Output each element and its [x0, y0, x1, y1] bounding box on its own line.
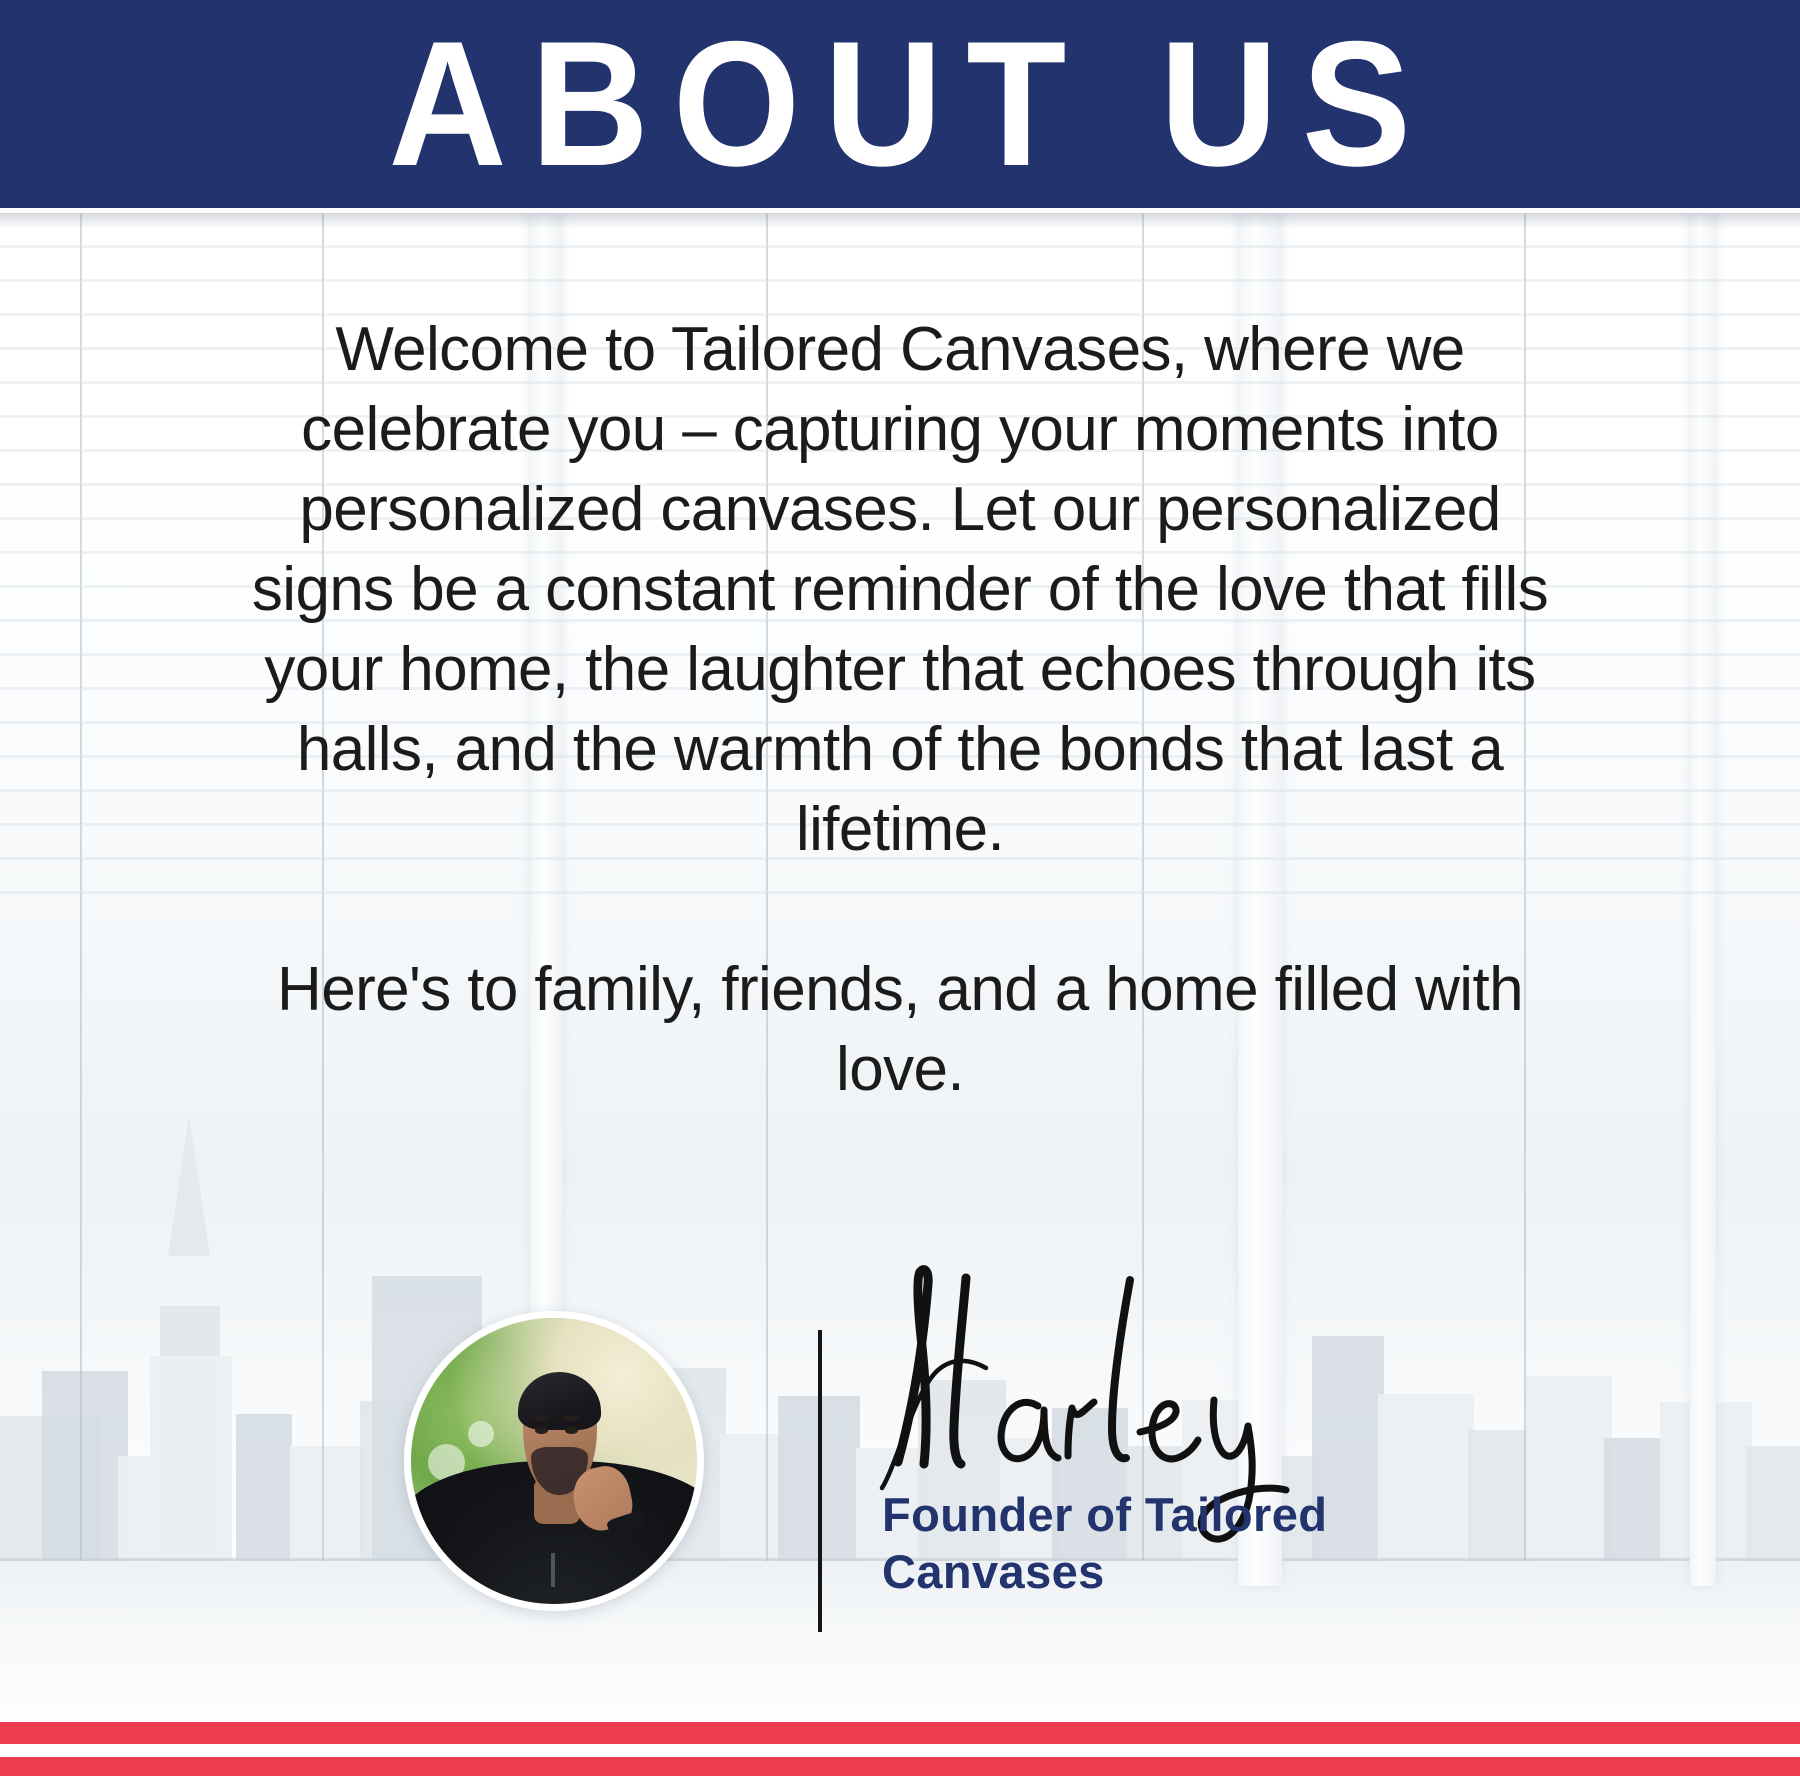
transamerica-pyramid-icon: [168, 1116, 210, 1256]
founder-role-line-2: Canvases: [882, 1543, 1402, 1600]
banner-shadow: [0, 213, 1800, 229]
portrait-eye: [535, 1427, 548, 1434]
about-us-banner: ABOUT US: [0, 0, 1800, 208]
about-us-copy: Welcome to Tailored Canvases, where we c…: [230, 310, 1570, 1110]
paragraph-1: Welcome to Tailored Canvases, where we c…: [230, 310, 1570, 870]
signature-divider: [818, 1330, 822, 1632]
footer-bar-bottom: [0, 1757, 1800, 1776]
portrait-eyebrow: [533, 1416, 550, 1421]
bokeh-dot: [468, 1421, 494, 1447]
page-title: ABOUT US: [365, 15, 1435, 193]
portrait-eyebrow: [563, 1416, 580, 1421]
founder-role-line-1: Founder of Tailored: [882, 1486, 1402, 1543]
portrait-eye: [565, 1427, 578, 1434]
founder-role: Founder of Tailored Canvases: [882, 1486, 1402, 1600]
founder-portrait: [404, 1311, 704, 1611]
paragraph-2: Here's to family, friends, and a home fi…: [230, 950, 1570, 1110]
footer-bar-top: [0, 1722, 1800, 1744]
about-us-poster: ABOUT US Welcome to Tailored Canvases, w…: [0, 0, 1800, 1776]
portrait-necklace: [551, 1553, 554, 1587]
